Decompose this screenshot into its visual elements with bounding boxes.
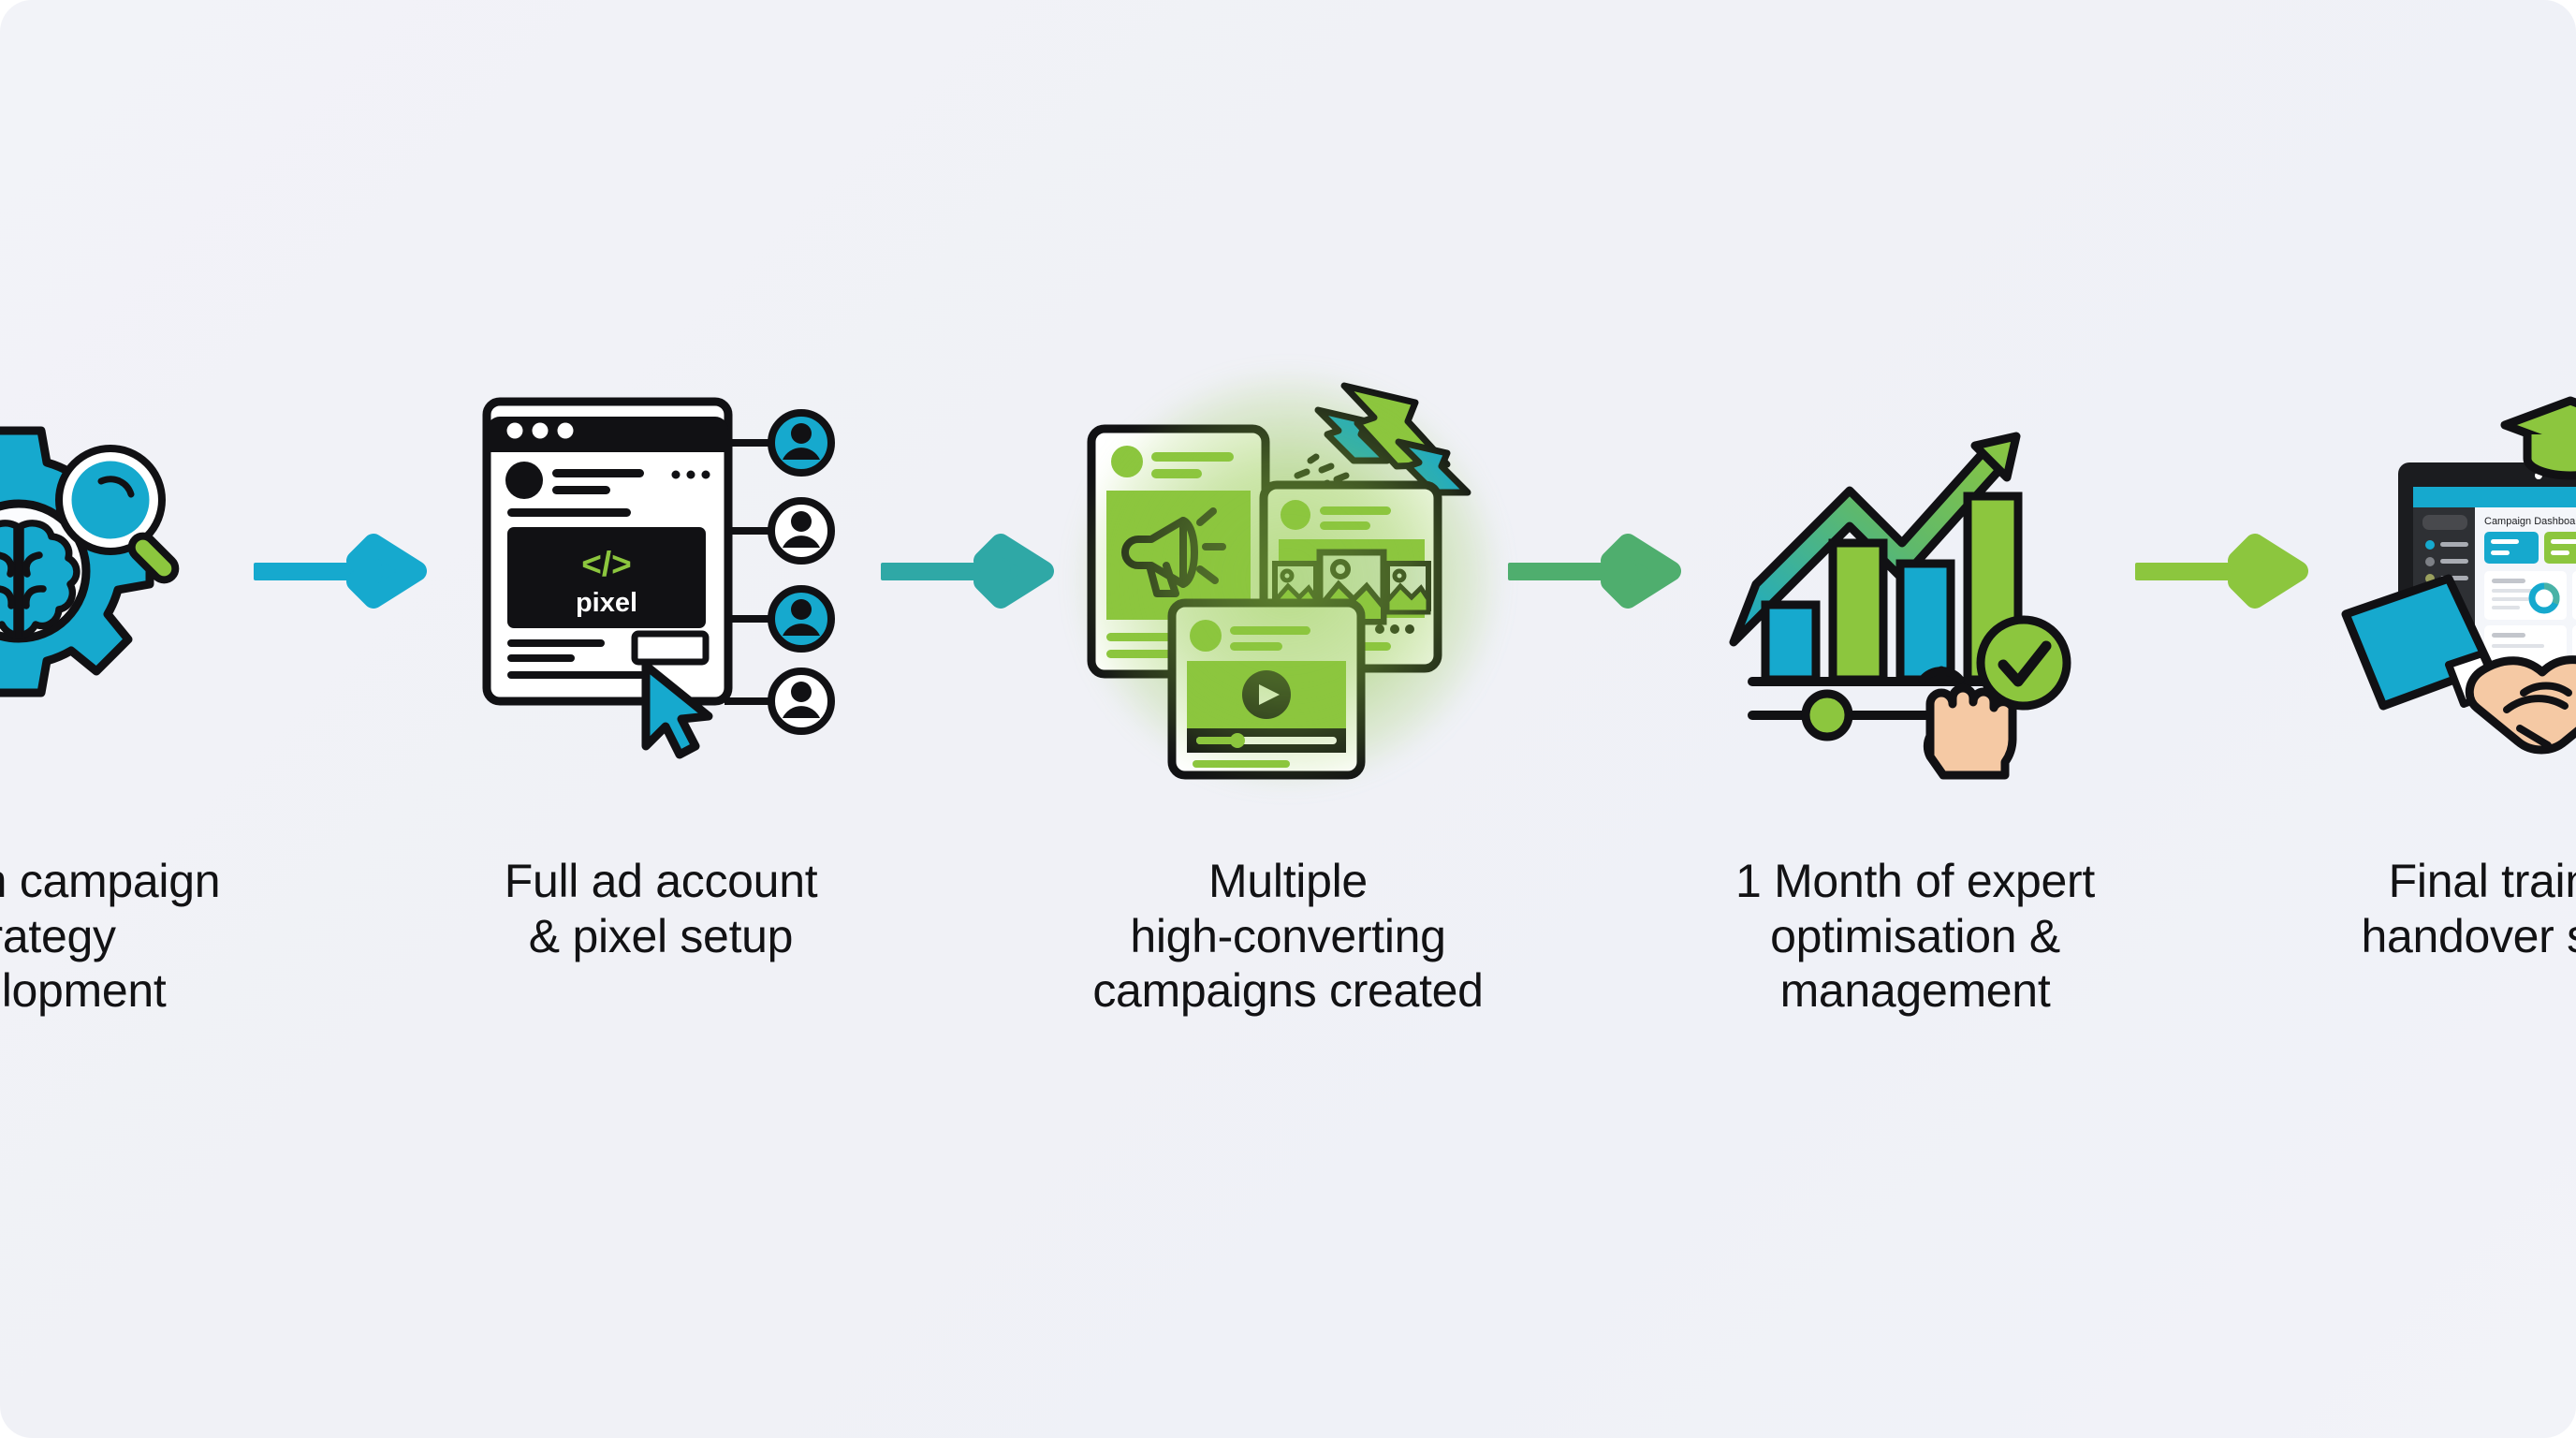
dashboard-widgets xyxy=(2484,571,2576,667)
connector-arrow-2 xyxy=(881,309,1068,833)
dashboard-title: Campaign Dashboard xyxy=(2484,516,2576,527)
avatar-item xyxy=(771,671,831,731)
bar-2 xyxy=(1833,543,1883,680)
step-1-artwork xyxy=(0,309,254,833)
step-2-label: Full ad account & pixel setup xyxy=(505,854,818,963)
browser-pixel-setup-icon: </> pixel xyxy=(474,389,848,754)
dashboard-stat-cards xyxy=(2484,532,2576,564)
process-step-5[interactable]: Campaign Dashboard xyxy=(2322,0,2576,963)
process-step-4[interactable]: 1 Month of expert optimisation & managem… xyxy=(1695,0,2135,1019)
bar-3 xyxy=(1900,564,1951,680)
step-3-artwork xyxy=(1068,309,1508,833)
window-dot xyxy=(507,423,523,439)
multiple-ad-creatives-icon xyxy=(1082,356,1494,786)
window-dot xyxy=(533,423,549,439)
step-5-artwork: Campaign Dashboard xyxy=(2322,309,2576,833)
right-arrow-icon xyxy=(2135,544,2298,598)
gear-brain-magnifier-icon xyxy=(0,403,212,740)
bar-1 xyxy=(1765,605,1816,680)
dashboard-topbar xyxy=(2413,487,2576,507)
avatar-list xyxy=(771,413,831,731)
right-arrow-icon xyxy=(254,544,417,598)
infographic-canvas: Custom campaign strategy development xyxy=(0,0,2576,1438)
code-tag-glyph: </> xyxy=(581,545,632,583)
pixel-screen-text: pixel xyxy=(576,588,637,618)
right-arrow-icon xyxy=(881,544,1044,598)
handover-handshake-icon: Campaign Dashboard xyxy=(2336,384,2576,758)
connector-arrow-1 xyxy=(254,309,441,833)
bar-chart-optimisation-icon xyxy=(1728,384,2102,758)
right-arrow-icon xyxy=(1508,544,1671,598)
avatar-item xyxy=(771,589,831,649)
connector-arrow-3 xyxy=(1508,309,1695,833)
video-ad-card xyxy=(1172,603,1361,775)
process-step-2[interactable]: </> pixel xyxy=(441,0,881,963)
avatar xyxy=(505,462,543,499)
avatar-item xyxy=(771,413,831,473)
slider-control xyxy=(1752,694,1939,737)
window-dot xyxy=(558,423,574,439)
step-4-label: 1 Month of expert optimisation & managem… xyxy=(1735,854,2095,1019)
step-1-label: Custom campaign strategy development xyxy=(0,854,220,1019)
step-5-label: Final training & handover session xyxy=(2361,854,2576,963)
process-flow: Custom campaign strategy development xyxy=(0,0,2576,1438)
process-step-1[interactable]: Custom campaign strategy development xyxy=(0,0,254,1019)
avatar-item xyxy=(771,501,831,561)
connector-arrow-4 xyxy=(2135,309,2322,833)
browser-window: </> pixel xyxy=(487,402,728,701)
step-2-artwork: </> pixel xyxy=(441,309,881,833)
step-4-artwork xyxy=(1695,309,2135,833)
process-step-3[interactable]: Multiple high-converting campaigns creat… xyxy=(1068,0,1508,1019)
cta-button xyxy=(635,634,706,662)
step-3-label: Multiple high-converting campaigns creat… xyxy=(1092,854,1483,1019)
